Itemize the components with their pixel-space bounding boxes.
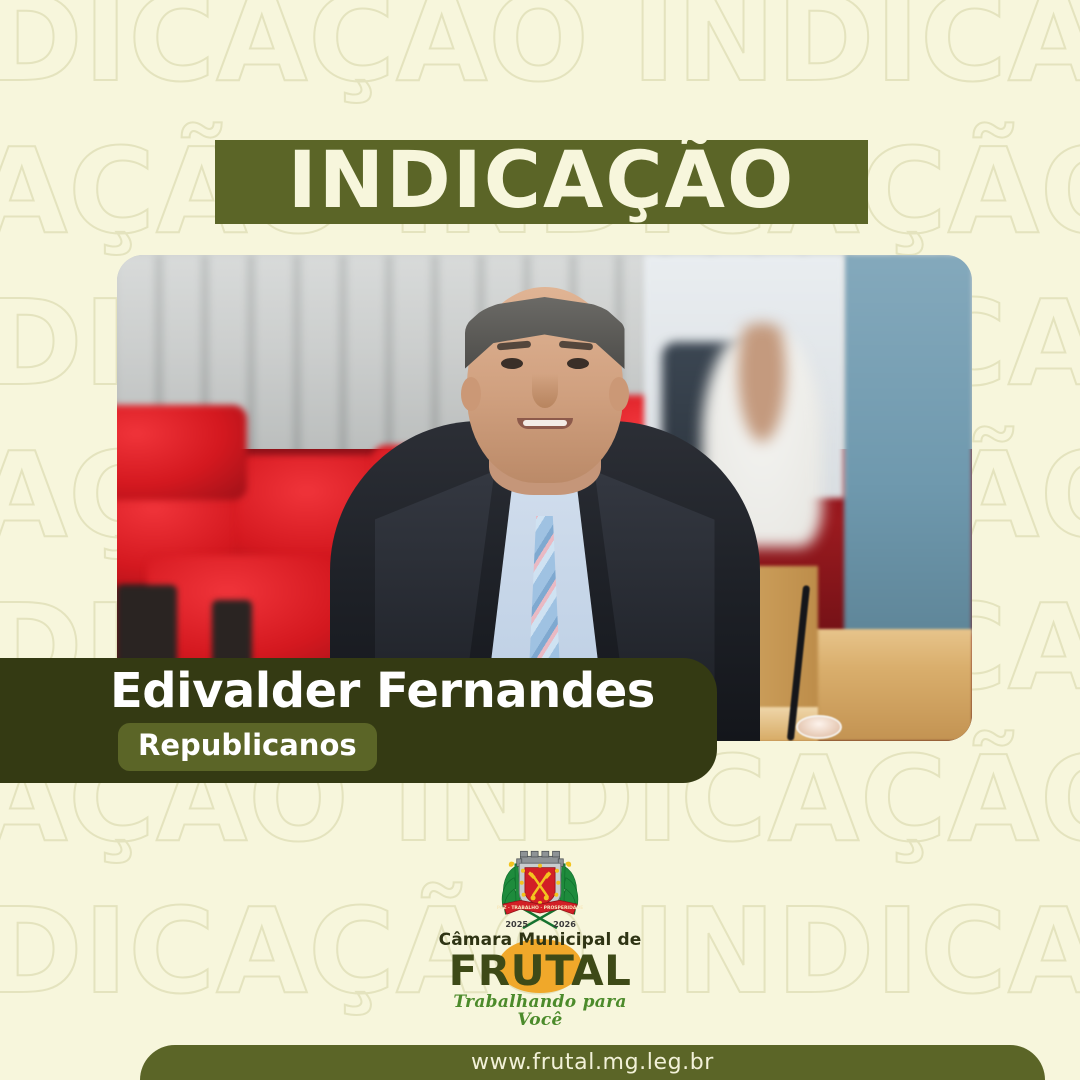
party-badge: Republicanos (118, 723, 377, 771)
member-name: Edivalder Fernandes (110, 664, 655, 719)
brand-line-city: FRUTAL (430, 950, 650, 992)
photo-chair (117, 405, 247, 500)
photo-glass (796, 715, 842, 739)
crest-year-right: 2026 (553, 919, 576, 929)
city-council-logo: PAZ · TRABALHO · PROSPERIDADE 2025 2026 … (0, 845, 1080, 1030)
page-title: INDICAÇÃO (215, 128, 868, 233)
coat-of-arms-icon: PAZ · TRABALHO · PROSPERIDADE 2025 2026 (455, 845, 625, 933)
crest-motto: PAZ · TRABALHO · PROSPERIDADE (497, 905, 583, 911)
photo-person-eye-left (501, 358, 523, 369)
photo-person-ear-left (461, 377, 481, 411)
watermark-row: INDICAÇÃO INDICAÇÃO INDICAÇÃO (0, 0, 1080, 98)
brand-line-slogan: Trabalhando para Você (430, 993, 650, 1030)
crest-year-left: 2025 (505, 919, 528, 929)
brand-lockup: Câmara Municipal de FRUTAL Trabalhando p… (430, 931, 650, 1030)
photo-person-nose (532, 374, 558, 408)
photo-blue-panel (844, 255, 972, 634)
photo-person-teeth (523, 420, 567, 426)
footer-website-url[interactable]: www.frutal.mg.leg.br (140, 1045, 1045, 1080)
photo-person-eye-right (567, 358, 589, 369)
photo-person-ear-right (609, 377, 629, 411)
